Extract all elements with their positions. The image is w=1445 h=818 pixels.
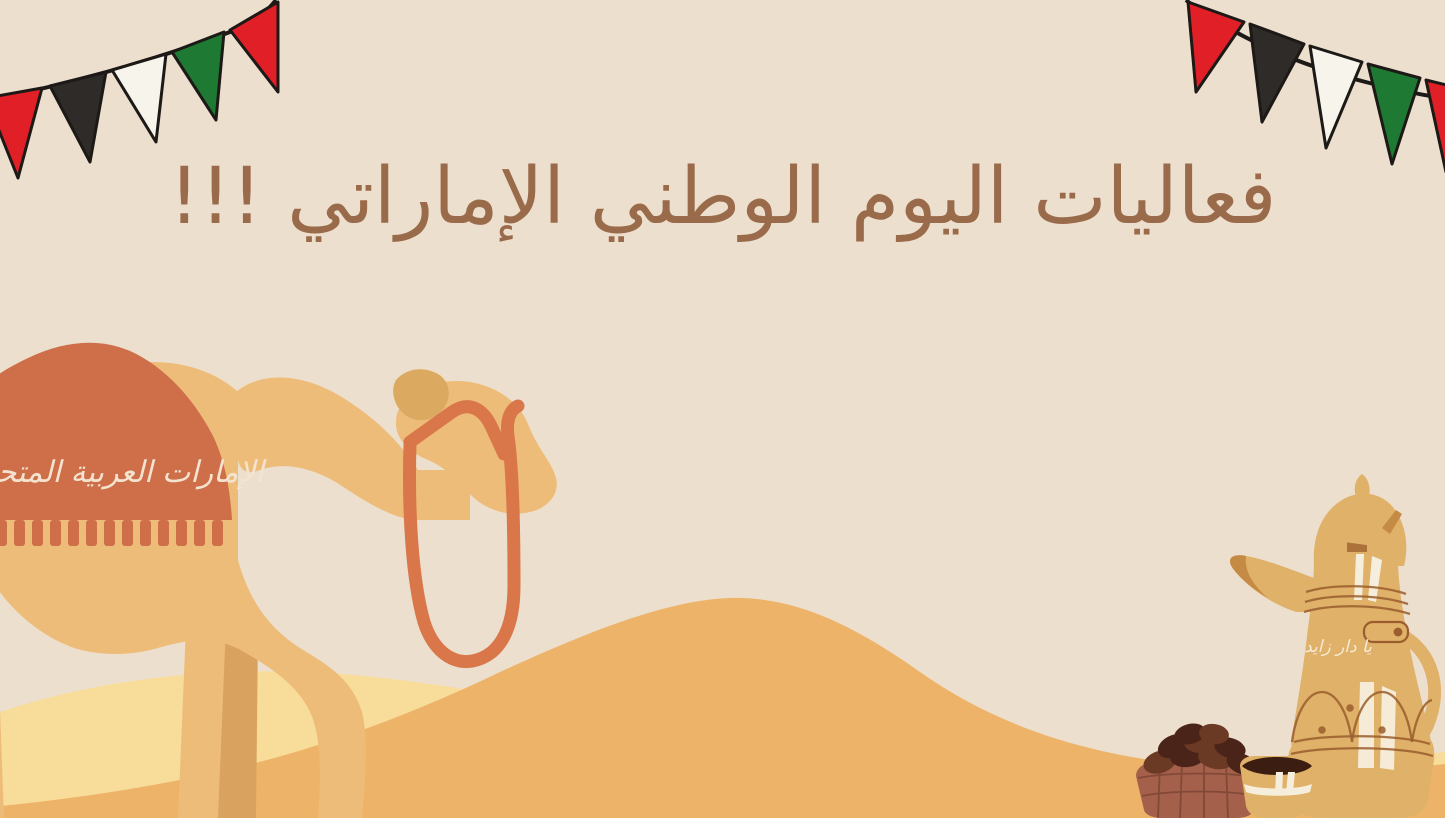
right-flag-4 — [1368, 64, 1420, 164]
left-flag-2 — [50, 72, 106, 162]
left-bunting — [0, 0, 278, 178]
right-flag-1 — [1188, 2, 1244, 92]
left-flag-3 — [112, 54, 166, 142]
right-flag-3 — [1310, 46, 1362, 148]
left-flag-4 — [172, 32, 224, 120]
bunting-layer — [0, 0, 1445, 818]
poster-canvas: الإمارات العربية المتحدة — [0, 0, 1445, 818]
left-flag-5 — [230, 2, 278, 92]
right-bunting — [1186, 0, 1445, 172]
left-flag-1 — [0, 88, 42, 178]
right-flag-5 — [1426, 80, 1445, 172]
right-flag-2 — [1250, 24, 1304, 122]
